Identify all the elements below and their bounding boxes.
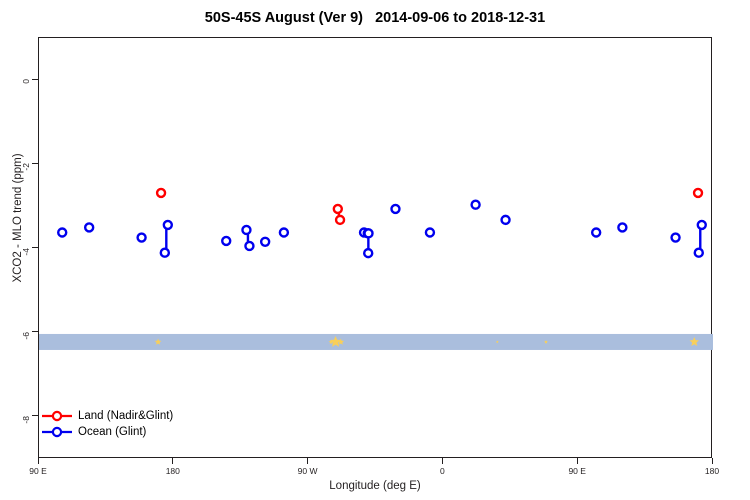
data-count-band <box>39 334 713 350</box>
data-point-land-3 <box>694 189 702 197</box>
data-point-land-2 <box>336 216 344 224</box>
x-tick-label-4: 90 E <box>568 466 586 476</box>
data-point-ocean-17 <box>502 216 510 224</box>
y-tick-mark-2 <box>32 247 38 248</box>
x-tick-label-1: 180 <box>166 466 180 476</box>
plot-area <box>38 37 712 458</box>
x-tick-mark-2 <box>307 458 308 464</box>
x-tick-label-2: 90 W <box>298 466 318 476</box>
legend-item-ocean: Ocean (Glint) <box>42 424 173 440</box>
y-tick-label-1: -2 <box>21 163 31 171</box>
data-point-land-0 <box>157 189 165 197</box>
data-point-ocean-9 <box>280 229 288 237</box>
data-point-ocean-7 <box>245 242 253 250</box>
y-tick-label-2: -4 <box>21 248 31 256</box>
x-tick-mark-1 <box>172 458 173 464</box>
data-point-ocean-19 <box>618 223 626 231</box>
data-point-ocean-5 <box>222 237 230 245</box>
data-point-ocean-16 <box>472 201 480 209</box>
x-tick-mark-4 <box>577 458 578 464</box>
data-point-layer <box>58 189 706 257</box>
data-point-ocean-0 <box>58 229 66 237</box>
legend-label-ocean: Ocean (Glint) <box>78 426 146 438</box>
legend-marker-ocean <box>42 425 72 439</box>
data-point-ocean-13 <box>364 249 372 257</box>
y-tick-label-3: -6 <box>21 332 31 340</box>
y-tick-mark-4 <box>32 415 38 416</box>
x-tick-label-5: 180 <box>705 466 719 476</box>
x-tick-mark-0 <box>38 458 39 464</box>
y-tick-mark-3 <box>32 331 38 332</box>
legend-item-land: Land (Nadir&Glint) <box>42 408 173 424</box>
chart-legend: Land (Nadir&Glint) Ocean (Glint) <box>42 408 173 440</box>
data-point-land-1 <box>334 205 342 213</box>
y-tick-label-0: 0 <box>21 79 31 84</box>
y-tick-mark-1 <box>32 163 38 164</box>
data-point-ocean-2 <box>138 234 146 242</box>
data-point-ocean-8 <box>261 238 269 246</box>
legend-marker-land <box>42 409 72 423</box>
x-tick-label-3: 0 <box>440 466 445 476</box>
plot-canvas <box>39 38 713 459</box>
x-axis-label: Longitude (deg E) <box>0 480 750 492</box>
chart-figure: 50S-45S August (Ver 9) 2014-09-06 to 201… <box>0 0 750 500</box>
legend-label-land: Land (Nadir&Glint) <box>78 410 173 422</box>
x-tick-label-0: 90 E <box>29 466 47 476</box>
data-point-ocean-15 <box>426 229 434 237</box>
data-point-ocean-12 <box>365 229 373 237</box>
chart-title: 50S-45S August (Ver 9) 2014-09-06 to 201… <box>0 10 750 26</box>
data-point-ocean-3 <box>164 221 172 229</box>
x-tick-mark-3 <box>442 458 443 464</box>
data-point-ocean-14 <box>391 205 399 213</box>
y-axis-label: XCO2 - MLO trend (ppm) <box>12 78 24 358</box>
data-point-ocean-6 <box>242 226 250 234</box>
y-tick-label-4: -8 <box>21 416 31 424</box>
x-tick-mark-5 <box>712 458 713 464</box>
data-point-ocean-18 <box>592 229 600 237</box>
y-tick-mark-0 <box>32 79 38 80</box>
data-point-ocean-21 <box>698 221 706 229</box>
data-point-ocean-1 <box>85 223 93 231</box>
band-layer <box>39 334 713 350</box>
data-point-ocean-20 <box>672 234 680 242</box>
data-point-ocean-22 <box>695 249 703 257</box>
data-point-ocean-4 <box>161 249 169 257</box>
